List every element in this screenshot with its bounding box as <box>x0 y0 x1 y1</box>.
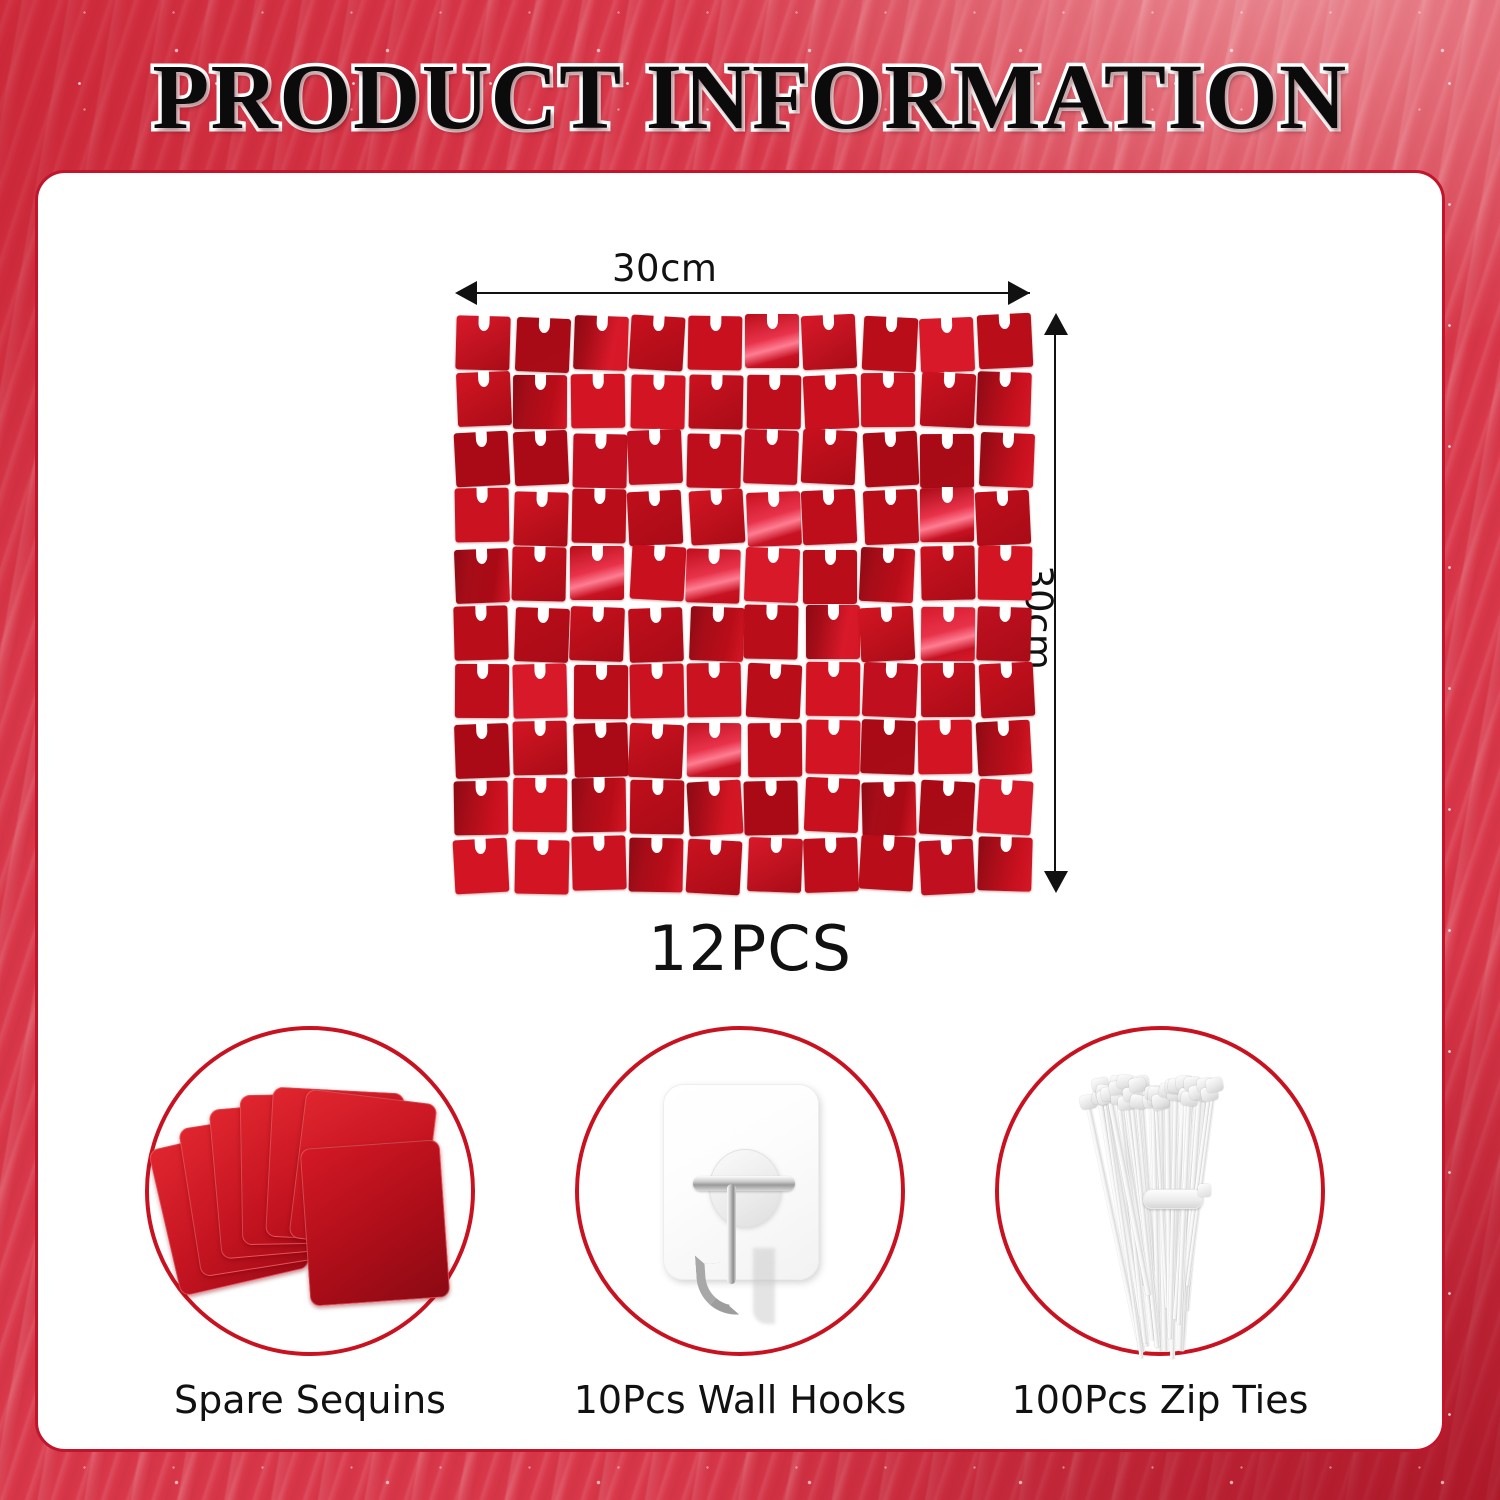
sequin-tile <box>630 780 685 835</box>
sequin-tile <box>512 777 567 832</box>
width-dimension-line <box>460 292 1030 294</box>
zip-tie-binding-band <box>1143 1189 1203 1209</box>
sequin-tile <box>859 546 915 602</box>
accessory-caption: 10Pcs Wall Hooks <box>545 1378 935 1422</box>
sequin-tile <box>689 606 745 662</box>
sequin-tile <box>920 371 976 427</box>
sequin-tile <box>802 374 859 431</box>
sequin-tile <box>512 430 568 486</box>
sequin-tile <box>515 839 570 894</box>
sequin-tile <box>573 723 629 779</box>
accessory-wall-hooks: 10Pcs Wall Hooks <box>575 1026 905 1356</box>
sequin-tile <box>627 429 683 485</box>
sequin-tile <box>688 375 743 430</box>
sequin-tile <box>744 546 800 602</box>
quantity-label: 12PCS <box>0 912 1500 985</box>
sequin-tile <box>689 488 746 545</box>
sequin-tile <box>571 374 626 429</box>
sequin-tile <box>862 662 918 718</box>
sequin-tile <box>686 779 743 836</box>
sequin-tile <box>919 317 975 373</box>
sequin-tile <box>979 432 1035 488</box>
sequin-tile <box>455 371 511 427</box>
sequin-tile <box>801 314 857 370</box>
sequin-tile <box>745 314 799 368</box>
sequin-tile <box>629 663 684 718</box>
sequin-tile <box>573 315 629 371</box>
sequin-tile <box>801 489 857 545</box>
sequin-tile <box>454 548 510 604</box>
height-dimension-line <box>1054 318 1056 888</box>
page-title: PRODUCT INFORMATION <box>0 44 1500 151</box>
sequin-tile <box>688 315 743 370</box>
sequin-tile <box>687 663 742 718</box>
sequin-tile <box>571 835 626 890</box>
arrow-down-icon <box>1044 871 1068 893</box>
sequin-tile <box>862 316 919 373</box>
sequin-tile <box>453 838 510 895</box>
sequin-tile <box>861 373 915 427</box>
sequin-tile <box>975 490 1032 547</box>
sequin-tile <box>686 433 741 488</box>
sequin-tile <box>512 720 567 775</box>
sequin-tile <box>978 546 1033 601</box>
sequin-tile <box>454 723 510 779</box>
sequin-tile <box>918 839 975 896</box>
sequin-tile <box>977 836 1033 892</box>
sequin-tile <box>685 838 742 895</box>
accessory-zip-ties: 100Pcs Zip Ties <box>995 1026 1325 1356</box>
sequin-tile <box>803 837 859 893</box>
sequin-tile <box>919 780 976 837</box>
arrow-left-icon <box>455 281 477 305</box>
sequin-tile <box>513 491 568 546</box>
sequin-panel <box>455 315 1035 895</box>
sequin-tile <box>747 837 803 893</box>
accessory-caption: 100Pcs Zip Ties <box>965 1378 1355 1422</box>
sequin-tile <box>629 545 686 602</box>
sequin-tile <box>918 720 973 775</box>
sequin-tile <box>571 488 626 543</box>
sequin-tile <box>569 606 625 662</box>
sequin-tile <box>515 316 571 372</box>
sequin-tile <box>514 607 570 663</box>
sequin-tile <box>977 312 1034 369</box>
sequin-tile <box>743 780 798 835</box>
sequin-tile <box>858 606 915 663</box>
sequin-tile <box>747 375 802 430</box>
hook-crossbar <box>693 1176 795 1191</box>
sequin-tile <box>513 664 568 719</box>
sequin-tile <box>572 434 627 489</box>
zip-tie-head <box>1205 1076 1224 1093</box>
sequin-tile <box>627 490 684 547</box>
sequin-tile <box>455 487 510 542</box>
sequin-tile <box>572 778 627 833</box>
sequin-tile <box>863 489 919 545</box>
sequin-tile <box>629 607 685 663</box>
zip-tie-bundle-icon <box>995 1026 1325 1356</box>
sequin-tile <box>806 605 860 659</box>
sequin-tile <box>920 434 974 488</box>
width-dimension-label: 30cm <box>612 247 717 290</box>
sequin-tile <box>513 375 567 429</box>
sequin-tile <box>979 662 1036 719</box>
sequin-tile <box>569 546 623 600</box>
arrow-right-icon <box>1008 281 1030 305</box>
sequin-tile <box>859 834 916 891</box>
sequin-tile <box>574 665 628 719</box>
sequin-tile <box>455 315 510 370</box>
sequin-tile <box>628 314 685 371</box>
sequin-tile <box>806 662 861 717</box>
arrow-up-icon <box>1044 313 1068 335</box>
sequin-tile <box>977 779 1034 836</box>
sequin-tile <box>685 548 741 604</box>
sequin-tile <box>976 372 1032 428</box>
sequin-tile <box>748 722 803 777</box>
sequin-tile <box>746 491 802 547</box>
sequin-tile <box>630 375 685 430</box>
sequin-tile <box>920 663 974 717</box>
sequin-tile <box>804 777 860 833</box>
sequin-tile <box>745 662 802 719</box>
sequin-tile <box>454 431 511 488</box>
sequin-tile <box>800 428 857 485</box>
sequin-tile <box>629 838 684 893</box>
sequin-tile <box>920 488 974 542</box>
sequin-tile <box>921 546 976 601</box>
sequin-tile <box>921 607 976 662</box>
sequin-tile <box>805 719 860 774</box>
sequin-tile <box>863 430 920 487</box>
sequin-tile <box>861 781 916 836</box>
sequin-tile <box>976 719 1033 776</box>
sequin-tile <box>455 664 509 718</box>
accessory-spare-sequins: Spare Sequins <box>145 1026 475 1356</box>
red-sequin-stack-icon <box>145 1026 475 1356</box>
sequin-tile <box>453 606 508 661</box>
sequin-tile <box>977 606 1033 662</box>
sequin-tile <box>860 719 916 775</box>
sequin-tile <box>744 604 799 659</box>
accessory-caption: Spare Sequins <box>115 1378 505 1422</box>
sequin-tile <box>803 549 857 603</box>
sequin-tile <box>512 547 567 602</box>
sequin-tile <box>743 429 799 485</box>
sequin-tile <box>454 781 509 836</box>
sequin-tile <box>687 723 741 777</box>
sequin-tile <box>628 723 684 779</box>
hook-shadow <box>753 1248 775 1324</box>
